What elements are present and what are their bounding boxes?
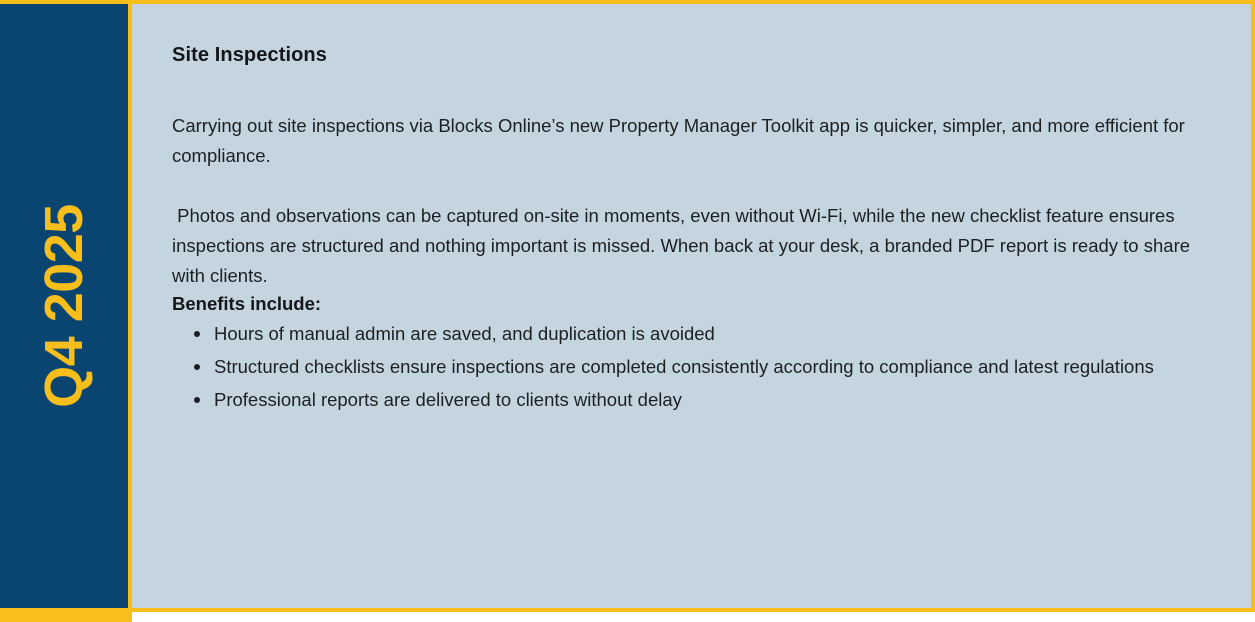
list-item: Hours of manual admin are saved, and dup…: [212, 319, 1212, 349]
benefits-heading: Benefits include:: [172, 293, 1215, 315]
details-paragraph: Photos and observations can be captured …: [172, 201, 1192, 291]
list-item: Professional reports are delivered to cl…: [212, 385, 1212, 415]
gold-bottom-bar: [0, 608, 132, 622]
page-title: Site Inspections: [172, 44, 1215, 67]
benefits-list: Hours of manual admin are saved, and dup…: [172, 319, 1212, 415]
slide-root: Q4 2025 Site Inspections Carrying out si…: [0, 0, 1255, 622]
intro-paragraph: Carrying out site inspections via Blocks…: [172, 111, 1192, 171]
quarter-label: Q4 2025: [37, 204, 91, 408]
quarter-panel: Q4 2025: [0, 0, 128, 608]
content-card: Site Inspections Carrying out site inspe…: [132, 0, 1255, 612]
list-item: Structured checklists ensure inspections…: [212, 352, 1212, 382]
